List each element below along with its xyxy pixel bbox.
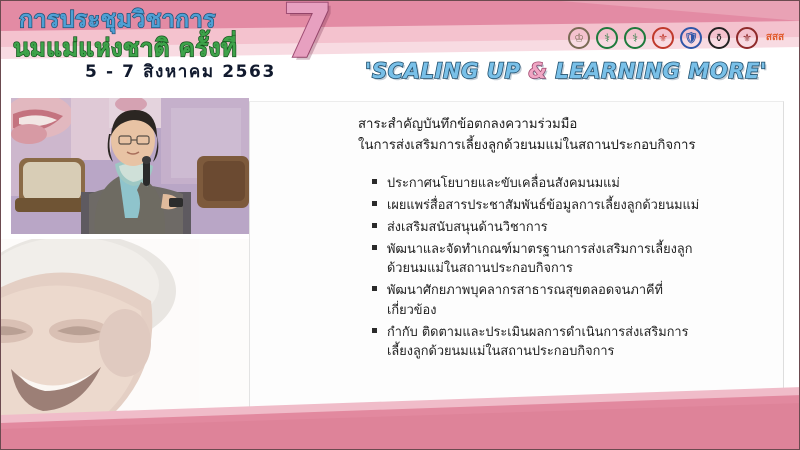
logo-glyph: ⚜: [658, 33, 668, 44]
commitment-bullet-list: ประกาศนโยบายและขับเคลื่อนสังคมนมแม่ เผยแ…: [372, 174, 772, 364]
logo-glyph: ♔: [574, 33, 584, 44]
slide-body: สาระสำคัญบันทึกข้อตกลงความร่วมมือ ในการส…: [1, 97, 800, 450]
royal-college-emblem-icon: ⚜: [651, 26, 675, 50]
logo-glyph: ⚜: [742, 33, 752, 44]
list-item: พัฒนาและจัดทำเกณฑ์มาตรฐานการส่งเสริมการเ…: [372, 240, 772, 279]
tagline-suffix: LEARNING MORE': [547, 59, 767, 83]
list-item-line: เกี่ยวข้อง: [387, 301, 772, 320]
square-bullet-icon: [372, 223, 377, 228]
list-item: กำกับ ติดตามและประเมินผลการดำเนินการส่งเ…: [372, 323, 772, 362]
national-health-emblem-icon: ⚜: [735, 26, 759, 50]
presentation-slide: การประชุมวิชาการ นมแม่แห่งชาติ ครั้งที่ …: [0, 0, 800, 450]
thaihealth-sss-emblem-icon: สสส: [763, 26, 787, 50]
agreement-summary-heading: สาระสำคัญบันทึกข้อตกลงความร่วมมือ ในการส…: [358, 114, 768, 157]
square-bullet-icon: [372, 328, 377, 333]
thai-pediatric-society-emblem-icon: ⚱: [707, 26, 731, 50]
logo-glyph: ⚕: [632, 33, 638, 44]
ministry-of-public-health-emblem-icon: ⚕: [595, 26, 619, 50]
square-bullet-icon: [372, 201, 377, 206]
garuda-emblem-icon: 🛡: [679, 26, 703, 50]
logo-glyph: 🛡: [684, 33, 698, 44]
list-item-line: พัฒนาศักยภาพบุคลากรสาธารณสุขตลอดจนภาคีที…: [387, 281, 772, 300]
speaker-video-frame: [11, 98, 249, 234]
slide-header-banner: การประชุมวิชาการ นมแม่แห่งชาติ ครั้งที่ …: [1, 1, 800, 97]
lede-line: ในการส่งเสริมการเลี้ยงลูกด้วยนมแม่ในสถาน…: [358, 135, 768, 156]
list-item: ส่งเสริมสนับสนุนด้านวิชาการ: [372, 218, 772, 237]
list-item-line: ด้วยนมแม่ในสถานประกอบกิจการ: [387, 259, 772, 278]
list-item-line: เผยแพร่สื่อสารประชาสัมพันธ์ข้อมูลการเลี้…: [387, 196, 772, 215]
list-item: เผยแพร่สื่อสารประชาสัมพันธ์ข้อมูลการเลี้…: [372, 196, 772, 215]
logo-glyph: ⚱: [714, 33, 723, 44]
tagline-prefix: 'SCALING UP: [365, 59, 529, 83]
square-bullet-icon: [372, 245, 377, 250]
content-panel: สาระสำคัญบันทึกข้อตกลงความร่วมมือ ในการส…: [249, 101, 784, 450]
conference-tagline: 'SCALING UP & LEARNING MORE': [365, 59, 767, 83]
list-item-line: ประกาศนโยบายและขับเคลื่อนสังคมนมแม่: [387, 174, 772, 193]
square-bullet-icon: [372, 179, 377, 184]
lede-line: สาระสำคัญบันทึกข้อตกลงความร่วมมือ: [358, 114, 768, 135]
department-of-health-emblem-icon: ⚕: [623, 26, 647, 50]
tagline-ampersand: &: [529, 59, 548, 83]
list-item-line: เลี้ยงลูกด้วยนมแม่ในสถานประกอบกิจการ: [387, 342, 772, 361]
partner-logo-row: ♔ ⚕ ⚕ ⚜ 🛡 ⚱ ⚜: [567, 26, 787, 50]
list-item-line: พัฒนาและจัดทำเกณฑ์มาตรฐานการส่งเสริมการเ…: [387, 240, 772, 259]
logo-glyph: สสส: [766, 33, 784, 43]
square-bullet-icon: [372, 286, 377, 291]
list-item: ประกาศนโยบายและขับเคลื่อนสังคมนมแม่: [372, 174, 772, 193]
conference-date: 5 - 7 สิงหาคม 2563: [85, 58, 276, 85]
list-item-line: กำกับ ติดตามและประเมินผลการดำเนินการส่งเ…: [387, 323, 772, 342]
edition-number: 7: [282, 1, 334, 69]
royal-patronage-emblem-icon: ♔: [567, 26, 591, 50]
list-item-line: ส่งเสริมสนับสนุนด้านวิชาการ: [387, 218, 772, 237]
list-item: พัฒนาศักยภาพบุคลากรสาธารณสุขตลอดจนภาคีที…: [372, 281, 772, 320]
logo-glyph: ⚕: [604, 33, 610, 44]
baby-background-photo: [1, 239, 251, 450]
